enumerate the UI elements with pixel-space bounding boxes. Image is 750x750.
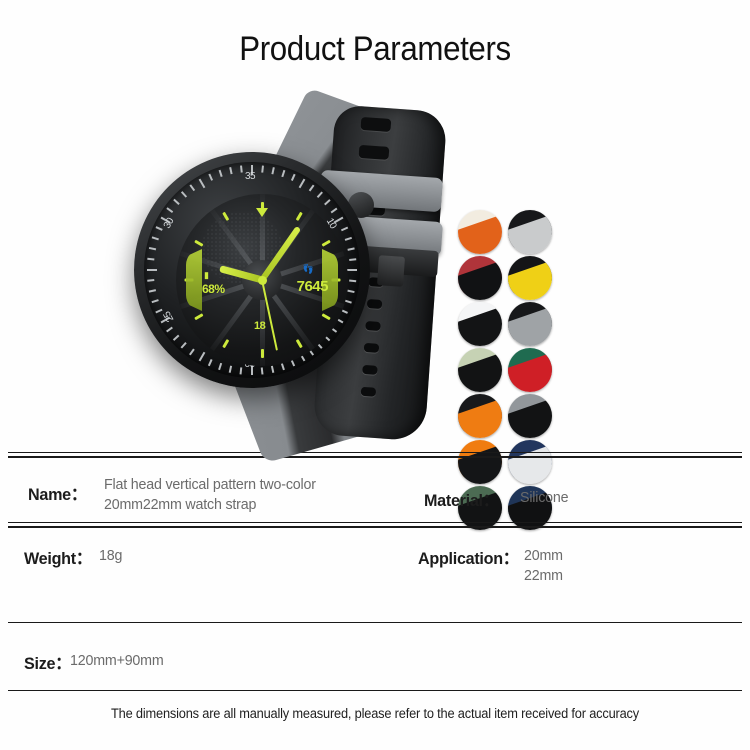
spec-value-application: 20mm 22mm [524,546,563,586]
dial-top-triangle-marker [256,208,268,217]
measurement-disclaimer: The dimensions are all manually measured… [19,706,732,721]
divider-top-thick [8,456,742,458]
dial-marker [321,313,330,320]
watch-bezel: 101520253035 ▮ 👣 68% 7645 18 [144,162,360,378]
dial-marker [261,349,264,358]
strap-buckle-tongue [377,255,405,287]
spec-label-weight: Weight： [24,544,92,569]
color-swatch-black-grey[interactable] [508,302,552,346]
swatch-row [458,440,558,484]
color-swatch-sage-black[interactable] [458,348,502,392]
swatch-row [458,210,558,254]
color-swatch-green-red[interactable] [508,348,552,392]
divider-top-thin [8,452,742,453]
spec-value-material: Silicone [520,488,568,508]
color-swatch-black-silver[interactable] [508,210,552,254]
watch-dial: ▮ 👣 68% 7645 18 [176,194,348,366]
swatch-row [458,302,558,346]
color-swatch-white-black[interactable] [458,302,502,346]
divider-size-top [8,622,742,623]
spec-value-weight: 18g [99,546,122,566]
color-swatch-black-orange[interactable] [458,394,502,438]
bezel-number: 35 [245,171,255,182]
watch-case: 101520253035 ▮ 👣 68% 7645 18 [134,152,370,388]
color-swatch-orange-cream[interactable] [458,210,502,254]
color-swatch-red-black[interactable] [458,256,502,300]
dial-date-value: 18 [254,320,265,332]
divider-size-bottom [8,690,742,691]
smartwatch-illustration: 101520253035 ▮ 👣 68% 7645 18 [120,100,460,445]
spec-label-application: Application： [418,544,519,569]
divider-mid-thin [8,522,742,523]
color-swatch-orange-black[interactable] [458,440,502,484]
dial-battery-arc [186,249,202,311]
spec-label-name: Name： [28,480,87,505]
swatch-row [458,394,558,438]
spec-label-size: Size： [24,649,71,674]
spec-value-name: Flat head vertical pattern two-color 20m… [104,475,389,515]
dial-marker [194,313,203,320]
product-hero-image: 101520253035 ▮ 👣 68% 7645 18 [0,100,750,445]
swatch-row [458,256,558,300]
color-swatch-black-yellow[interactable] [508,256,552,300]
dial-marker [194,240,203,247]
dial-marker [222,339,229,348]
dial-steps-value: 7645 [297,278,328,295]
dial-marker [295,212,302,221]
battery-icon: ▮ [204,270,209,281]
product-parameters-page: Product Parameters 101520253035 [0,0,750,750]
footsteps-icon: 👣 [303,264,314,275]
spec-value-size: 120mm+90mm [70,651,164,671]
color-swatch-grid[interactable] [458,210,558,532]
color-swatch-navy-white[interactable] [508,440,552,484]
color-swatch-grey-black[interactable] [508,394,552,438]
spec-label-material: Material： [424,486,499,511]
page-title: Product Parameters [30,30,720,69]
swatch-row [458,348,558,392]
dial-marker [321,240,330,247]
dial-center-dot [258,276,267,285]
dial-marker [295,339,302,348]
divider-mid-thick [8,526,742,528]
dial-battery-value: 68% [202,282,225,296]
